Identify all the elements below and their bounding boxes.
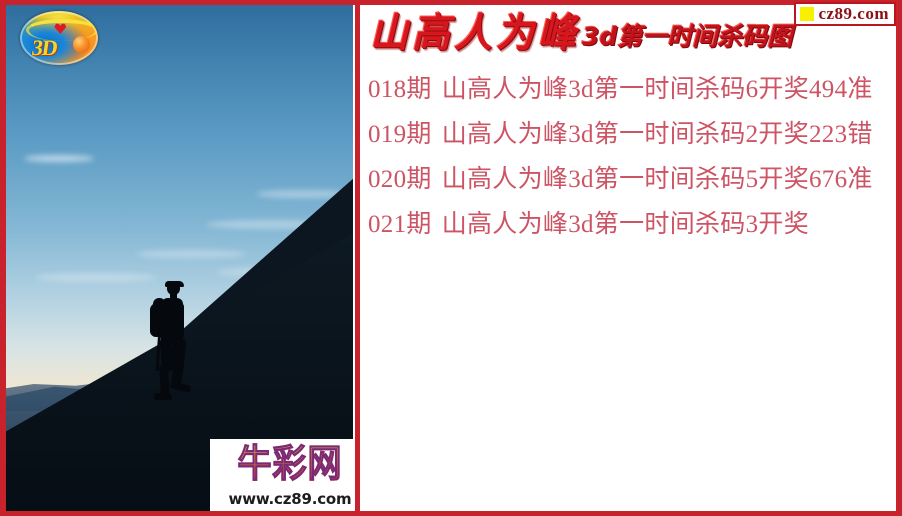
record-text: 山高人为峰3d第一时间杀码2开奖223错 <box>442 121 873 148</box>
list-item: 019期山高人为峰3d第一时间杀码2开奖223错 <box>368 112 890 157</box>
yellow-square-icon <box>800 7 814 21</box>
record-list: 018期山高人为峰3d第一时间杀码6开奖494准 019期山高人为峰3d第一时间… <box>368 67 890 247</box>
cloud-wisp <box>24 155 94 162</box>
emblem-3d-label: 3D <box>31 35 60 61</box>
cap-shape <box>165 281 184 287</box>
boot-right-shape <box>173 382 191 392</box>
watermark-logo-text: 牛彩网 <box>238 442 343 487</box>
cloud-wisp <box>36 273 156 282</box>
record-period: 021期 <box>368 211 432 238</box>
list-item: 021期山高人为峰3d第一时间杀码3开奖 <box>368 202 890 247</box>
arm-shape <box>177 303 184 339</box>
record-period: 018期 <box>368 76 432 103</box>
title-main-text: 山高人为峰 <box>370 12 580 54</box>
site-badge-text: cz89.com <box>818 5 889 23</box>
boot-left-shape <box>154 393 172 400</box>
lottery-emblem-icon: 3D <box>20 11 98 65</box>
cloud-wisp <box>136 250 246 258</box>
watermark-url-text: www.cz89.com <box>229 490 352 508</box>
record-period: 019期 <box>368 121 432 148</box>
lottery-ball-icon <box>73 36 90 53</box>
record-period: 020期 <box>368 166 432 193</box>
list-item: 020期山高人为峰3d第一时间杀码5开奖676准 <box>368 157 890 202</box>
site-watermark: 牛彩网 www.cz89.com <box>210 439 353 511</box>
hiker-silhouette <box>146 281 200 401</box>
site-badge[interactable]: cz89.com <box>794 2 896 26</box>
poster-page: 3D 牛彩网 www.cz89.com 山高人为峰 3d第一时间杀码图 018期… <box>0 0 902 516</box>
title-sub-text: 3d第一时间杀码图 <box>582 23 792 51</box>
page-title: 山高人为峰 3d第一时间杀码图 <box>370 13 792 53</box>
record-text: 山高人为峰3d第一时间杀码3开奖 <box>442 211 809 238</box>
record-text: 山高人为峰3d第一时间杀码5开奖676准 <box>442 166 873 193</box>
record-text: 山高人为峰3d第一时间杀码6开奖494准 <box>442 76 873 103</box>
text-panel: 山高人为峰 3d第一时间杀码图 018期山高人为峰3d第一时间杀码6开奖494准… <box>360 5 896 511</box>
photo-panel: 3D 牛彩网 www.cz89.com <box>6 5 353 511</box>
list-item: 018期山高人为峰3d第一时间杀码6开奖494准 <box>368 67 890 112</box>
